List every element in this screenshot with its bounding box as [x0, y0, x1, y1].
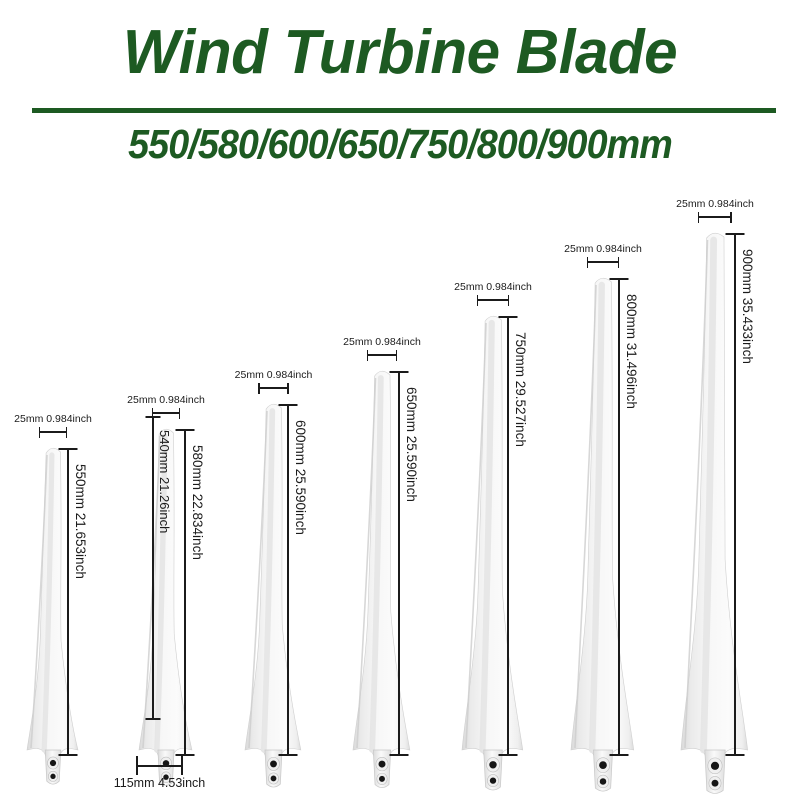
tip-width-dimension-650mm: 25mm 0.984inch	[367, 341, 397, 361]
base-width-dimension: 115mm 4.53inch	[136, 756, 183, 794]
tip-width-cap-left	[258, 383, 260, 394]
length-dimension-line	[287, 404, 289, 756]
length-dimension-cap-bottom	[610, 754, 629, 756]
inner-length-dimension-line	[152, 416, 154, 720]
bolt-hole-1	[711, 762, 719, 770]
bolt-hole-2	[50, 774, 55, 779]
length-dimension-line	[398, 371, 400, 756]
tip-width-bar	[258, 387, 288, 389]
length-label-750mm: 750mm 29.527inch	[513, 332, 527, 447]
tip-width-cap-right	[730, 212, 732, 223]
bolt-hole-1	[270, 760, 277, 767]
length-dimension-900mm: 900mm 35.433inch	[727, 233, 743, 756]
base-width-label: 115mm 4.53inch	[114, 776, 206, 790]
length-dimension-600mm: 600mm 25.590inch	[280, 404, 296, 756]
tip-width-cap-left	[39, 427, 41, 438]
tip-width-label: 25mm 0.984inch	[564, 243, 642, 255]
tip-width-bar	[698, 216, 732, 218]
base-width-cap-left	[136, 756, 138, 775]
length-dimension-cap-bottom	[59, 754, 78, 756]
bolt-hole-1	[50, 760, 56, 766]
length-dimension-line	[734, 233, 736, 756]
tip-width-bar	[587, 261, 619, 263]
tip-width-label: 25mm 0.984inch	[676, 198, 754, 210]
tip-width-bar	[152, 412, 181, 414]
base-width-bar	[136, 765, 183, 767]
tip-width-bar	[477, 299, 509, 301]
length-dimension-line	[67, 448, 69, 756]
tip-width-dimension-600mm: 25mm 0.984inch	[258, 374, 288, 394]
length-dimension-cap-bottom	[279, 754, 298, 756]
length-dimension-cap-top	[59, 448, 78, 450]
tip-width-dimension-550mm: 25mm 0.984inch	[39, 418, 68, 438]
length-dimension-cap-top	[610, 278, 629, 280]
tip-width-bar	[367, 354, 397, 356]
tip-width-cap-left	[477, 295, 479, 306]
length-label-800mm: 800mm 31.496inch	[624, 294, 638, 409]
bolt-hole-1	[599, 761, 607, 769]
length-dimension-580mm: 580mm 22.834inch	[177, 429, 193, 756]
base-width-cap-right	[181, 756, 183, 775]
length-dimension-cap-top	[279, 404, 298, 406]
length-dimension-650mm: 650mm 25.590inch	[391, 371, 407, 756]
tip-width-cap-right	[179, 408, 181, 419]
bolt-hole-2	[600, 778, 607, 785]
tip-width-dimension-750mm: 25mm 0.984inch	[477, 286, 509, 306]
inner-length-dimension-cap-bottom	[146, 718, 161, 720]
length-dimension-line	[618, 278, 620, 756]
tip-width-cap-left	[367, 350, 369, 361]
length-dimension-line	[507, 316, 509, 756]
tip-width-dimension-900mm: 25mm 0.984inch	[698, 203, 732, 223]
tip-width-cap-right	[66, 427, 68, 438]
tip-width-label: 25mm 0.984inch	[454, 281, 532, 293]
tip-width-cap-right	[396, 350, 398, 361]
tip-width-label: 25mm 0.984inch	[14, 413, 92, 425]
length-dimension-line	[184, 429, 186, 756]
blade-size-comparison-diagram: 25mm 0.984inch550mm 21.653inch25mm 0.984…	[0, 0, 800, 800]
tip-width-cap-right	[508, 295, 510, 306]
length-label-650mm: 650mm 25.590inch	[404, 387, 418, 502]
bolt-hole-2	[379, 776, 385, 782]
tip-width-cap-right	[287, 383, 289, 394]
length-dimension-cap-bottom	[390, 754, 409, 756]
length-dimension-cap-top	[726, 233, 745, 235]
inner-length-dimension-cap-top	[146, 416, 161, 418]
tip-width-bar	[39, 431, 68, 433]
length-dimension-550mm: 550mm 21.653inch	[60, 448, 76, 756]
tip-width-cap-right	[618, 257, 620, 268]
length-label-580mm: 580mm 22.834inch	[190, 445, 204, 560]
inner-length-label: 540mm 21.26inch	[157, 430, 171, 533]
bolt-hole-1	[489, 761, 496, 768]
length-dimension-cap-top	[176, 429, 195, 431]
inner-length-dimension-580mm: 540mm 21.26inch	[146, 416, 160, 720]
bolt-hole-2	[271, 776, 277, 782]
tip-width-cap-left	[698, 212, 700, 223]
length-dimension-750mm: 750mm 29.527inch	[500, 316, 516, 756]
length-label-550mm: 550mm 21.653inch	[73, 464, 87, 579]
length-label-600mm: 600mm 25.590inch	[293, 420, 307, 535]
length-dimension-800mm: 800mm 31.496inch	[611, 278, 627, 756]
tip-width-label: 25mm 0.984inch	[343, 336, 421, 348]
bolt-hole-2	[712, 780, 719, 787]
tip-width-cap-left	[587, 257, 589, 268]
length-label-900mm: 900mm 35.433inch	[740, 249, 754, 364]
tip-width-dimension-800mm: 25mm 0.984inch	[587, 248, 619, 268]
bolt-hole-1	[379, 761, 386, 768]
length-dimension-cap-top	[499, 316, 518, 318]
length-dimension-cap-bottom	[726, 754, 745, 756]
tip-width-label: 25mm 0.984inch	[235, 369, 313, 381]
bolt-hole-2	[490, 777, 496, 783]
tip-width-label: 25mm 0.984inch	[127, 394, 205, 406]
length-dimension-cap-top	[390, 371, 409, 373]
length-dimension-cap-bottom	[499, 754, 518, 756]
